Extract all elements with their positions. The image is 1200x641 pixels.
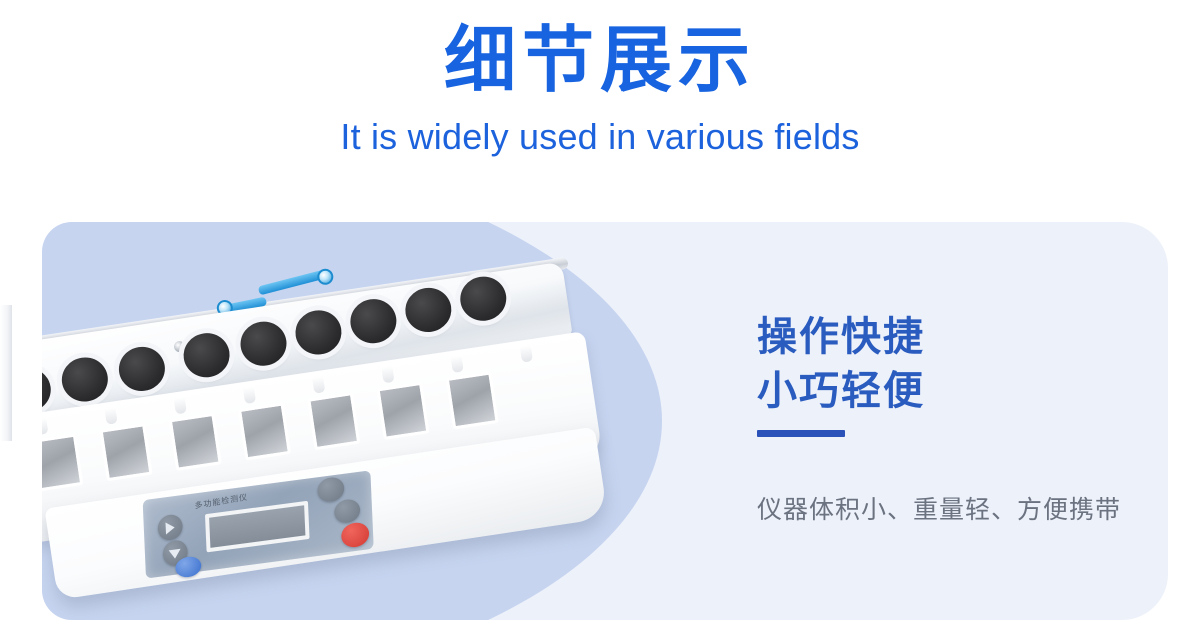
start-button[interactable] <box>317 476 345 504</box>
slot-tab <box>42 418 48 435</box>
arrow-up-icon <box>165 521 174 534</box>
feature-heading: 操作快捷 小巧轻便 <box>757 310 925 418</box>
reagent-slot <box>307 392 360 450</box>
slot-tab <box>381 366 394 383</box>
reagent-slot <box>238 402 291 460</box>
page-header: 细节展示 It is widely used in various fields <box>0 0 1200 158</box>
lid-clip-knob-3 <box>316 268 334 286</box>
page-title: 细节展示 <box>0 20 1200 103</box>
heading-divider <box>757 430 845 437</box>
reagent-slot <box>99 423 152 481</box>
lcd-screen <box>205 501 310 553</box>
up-arrow-button[interactable] <box>157 513 183 541</box>
slot-tab <box>520 345 533 362</box>
device-image-panel: 多功能检测仪 <box>42 222 662 620</box>
instrument-brand-label: 多功能检测仪 <box>194 492 248 512</box>
feature-card: 多功能检测仪 操作快捷 小巧轻便 仪器体积小、重量轻、方便携带 <box>42 222 1168 620</box>
page-subtitle: It is widely used in various fields <box>0 115 1200 158</box>
arrow-down-icon <box>169 549 181 560</box>
feature-description: 仪器体积小、重量轻、方便携带 <box>757 493 1121 528</box>
slot-tab <box>312 376 325 393</box>
slot-tab <box>451 356 464 373</box>
reagent-slot <box>42 433 83 491</box>
stop-button[interactable] <box>341 521 370 549</box>
reagent-slot <box>169 413 222 471</box>
reagent-slot <box>446 371 499 429</box>
slot-tab <box>174 397 187 414</box>
slot-tab <box>104 407 117 424</box>
feature-text-panel: 操作快捷 小巧轻便 仪器体积小、重量轻、方便携带 <box>716 222 1168 620</box>
reagent-slot <box>376 382 429 440</box>
instrument-edge-sliver <box>0 305 12 441</box>
result-button[interactable] <box>334 498 361 524</box>
slot-tab <box>243 387 256 404</box>
